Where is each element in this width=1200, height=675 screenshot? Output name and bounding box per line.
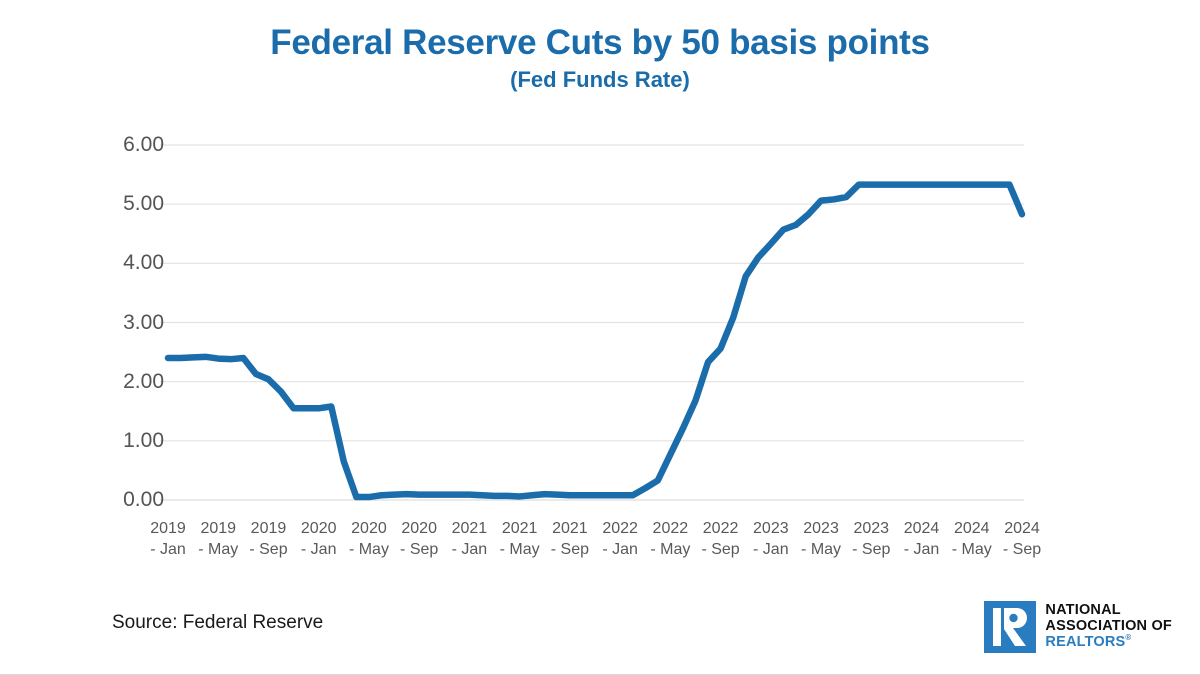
- y-axis-tick-2.00: 2.00: [78, 370, 164, 394]
- title-block: Federal Reserve Cuts by 50 basis points …: [0, 24, 1200, 92]
- page-title: Federal Reserve Cuts by 50 basis points: [0, 24, 1200, 63]
- x-tick-month: - Sep: [991, 539, 1053, 560]
- realtor-r-icon: [993, 608, 1027, 646]
- series-line-fed-funds-rate[interactable]: [168, 185, 1022, 497]
- nar-line-2: ASSOCIATION OF: [1045, 619, 1172, 635]
- slide-canvas: Federal Reserve Cuts by 50 basis points …: [0, 0, 1200, 674]
- y-axis-tick-1.00: 1.00: [78, 429, 164, 453]
- y-axis-tick-6.00: 6.00: [78, 133, 164, 157]
- chart-series-group[interactable]: [168, 185, 1022, 497]
- chart-gridlines: [160, 145, 1024, 500]
- y-axis-tick-5.00: 5.00: [78, 192, 164, 216]
- y-axis-tick-4.00: 4.00: [78, 251, 164, 275]
- nar-logo-mark: [984, 601, 1036, 653]
- chart-plot-area: [0, 120, 1200, 520]
- page-subtitle: (Fed Funds Rate): [0, 67, 1200, 92]
- nar-line-1: NATIONAL: [1045, 603, 1172, 619]
- chart-svg: [0, 120, 1200, 520]
- source-note: Source: Federal Reserve: [112, 612, 323, 634]
- registered-mark: ®: [1125, 633, 1131, 642]
- nar-logo: NATIONAL ASSOCIATION OF REALTORS®: [984, 601, 1172, 653]
- nar-logo-text: NATIONAL ASSOCIATION OF REALTORS®: [1045, 603, 1172, 651]
- x-axis: 2019- Jan2019- May2019- Sep2020- Jan2020…: [168, 518, 1022, 574]
- nar-line-3: REALTORS®: [1045, 634, 1172, 650]
- nar-realtors-word: REALTORS: [1045, 634, 1125, 650]
- x-axis-tick-2024-Sep: 2024- Sep: [991, 518, 1053, 560]
- y-axis-tick-3.00: 3.00: [78, 311, 164, 335]
- x-tick-year: 2024: [991, 518, 1053, 539]
- y-axis-tick-0.00: 0.00: [78, 488, 164, 512]
- y-axis: 0.001.002.003.004.005.006.00: [78, 120, 164, 520]
